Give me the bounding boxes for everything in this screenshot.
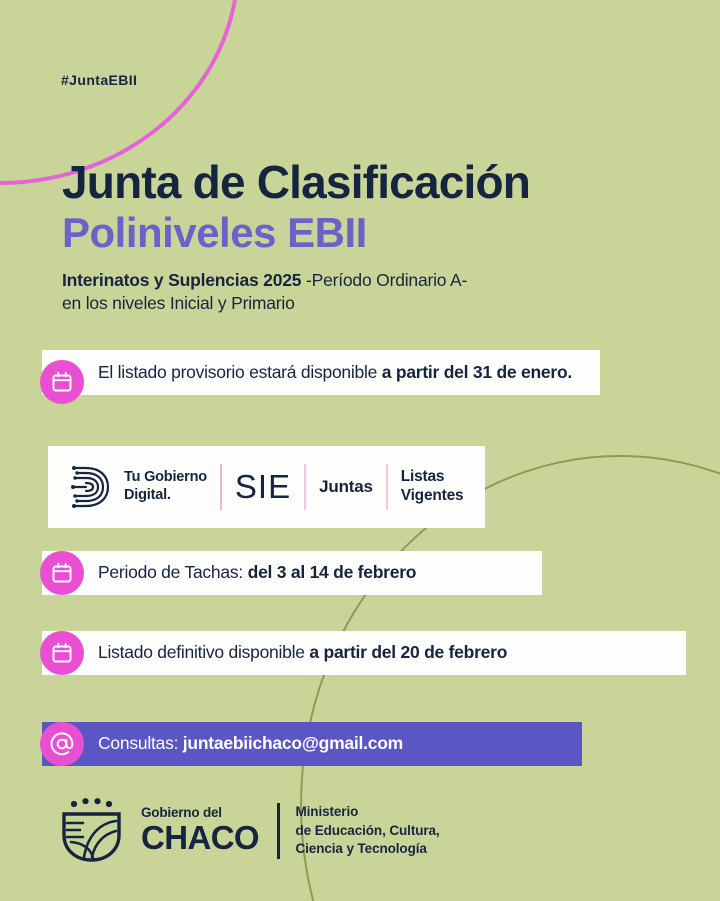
calendar-icon bbox=[40, 631, 84, 675]
contact-email[interactable]: juntaebiichaco@gmail.com bbox=[183, 733, 403, 753]
hashtag-label: #JuntaEBII bbox=[61, 72, 137, 88]
tu-gobierno-digital-label: Tu Gobierno Digital. bbox=[124, 469, 207, 504]
sie-label: SIE bbox=[235, 468, 291, 506]
chaco-shield-icon bbox=[57, 797, 127, 865]
ministerio-line-1: Ministerio bbox=[296, 803, 440, 822]
juntas-label: Juntas bbox=[319, 477, 373, 497]
subtitle-bold-part: Interinatos y Suplencias 2025 bbox=[62, 270, 301, 290]
title-block: Junta de Clasificación Poliniveles EBII … bbox=[62, 158, 662, 315]
logo-divider-1 bbox=[220, 464, 222, 510]
info-card-text: Periodo de Tachas: del 3 al 14 de febrer… bbox=[42, 561, 432, 584]
contact-label: Consultas: bbox=[98, 733, 183, 753]
subtitle-normal-part: -Período Ordinario A- bbox=[301, 270, 467, 290]
info-card-periodo-tachas: Periodo de Tachas: del 3 al 14 de febrer… bbox=[42, 551, 542, 595]
footer-divider bbox=[277, 803, 280, 859]
chaco-label: CHACO bbox=[141, 821, 259, 856]
logo-divider-3 bbox=[386, 464, 388, 510]
tu-gobierno-digital-icon bbox=[66, 462, 114, 512]
footer-branding: Gobierno del CHACO Ministerio de Educaci… bbox=[57, 797, 440, 865]
listas-line-2: Vigentes bbox=[401, 487, 464, 506]
card-text-normal: El listado provisorio estará disponible bbox=[98, 362, 382, 382]
calendar-icon bbox=[40, 551, 84, 595]
calendar-icon bbox=[40, 360, 84, 404]
page-title-primary: Junta de Clasificación bbox=[62, 158, 662, 207]
subtitle-line-2: en los niveles Inicial y Primario bbox=[62, 292, 662, 315]
logo-divider-2 bbox=[304, 464, 306, 510]
listas-line-1: Listas bbox=[401, 468, 464, 487]
info-card-text: Listado definitivo disponible a partir d… bbox=[42, 641, 523, 664]
logo-bar: Tu Gobierno Digital. SIE Juntas Listas V… bbox=[48, 446, 485, 528]
ministerio-label: Ministerio de Educación, Cultura, Cienci… bbox=[296, 803, 440, 859]
poster-canvas: #JuntaEBII Junta de Clasificación Polini… bbox=[0, 0, 720, 901]
ministerio-line-3: Ciencia y Tecnología bbox=[296, 840, 440, 859]
contact-bar[interactable]: Consultas: juntaebiichaco@gmail.com bbox=[42, 722, 582, 766]
ministerio-line-2: de Educación, Cultura, bbox=[296, 822, 440, 841]
info-card-listado-provisorio: El listado provisorio estará disponible … bbox=[42, 350, 600, 395]
subtitle-line-1: Interinatos y Suplencias 2025 -Período O… bbox=[62, 269, 662, 292]
tgd-line-2: Digital. bbox=[124, 487, 207, 505]
chaco-wordmark: Gobierno del CHACO bbox=[141, 806, 259, 855]
contact-text: Consultas: juntaebiichaco@gmail.com bbox=[42, 732, 419, 755]
page-title-secondary: Poliniveles EBII bbox=[62, 209, 662, 256]
card-text-normal: Listado definitivo disponible bbox=[98, 642, 309, 662]
card-text-bold: del 3 al 14 de febrero bbox=[248, 562, 417, 582]
info-card-text: El listado provisorio estará disponible … bbox=[42, 361, 588, 384]
tgd-line-1: Tu Gobierno bbox=[124, 469, 207, 487]
card-text-bold: a partir del 31 de enero. bbox=[382, 362, 572, 382]
info-card-listado-definitivo: Listado definitivo disponible a partir d… bbox=[42, 631, 686, 675]
listas-vigentes-label: Listas Vigentes bbox=[401, 468, 464, 505]
at-icon bbox=[40, 722, 84, 766]
card-text-bold: a partir del 20 de febrero bbox=[309, 642, 507, 662]
card-text-normal: Periodo de Tachas: bbox=[98, 562, 248, 582]
